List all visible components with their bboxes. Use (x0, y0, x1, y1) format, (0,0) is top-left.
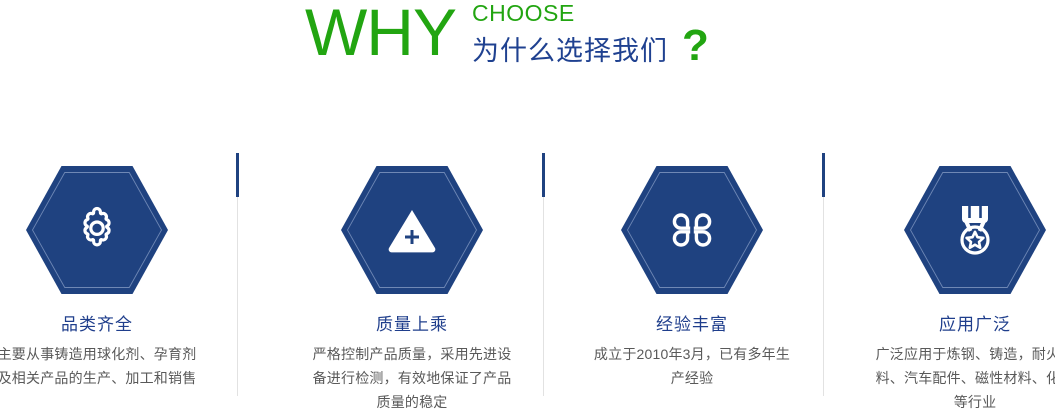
subtitle-row: 为什么选择我们 ? (472, 30, 709, 67)
card-title: 应用广泛 (847, 314, 1055, 336)
feature-card: 经验丰富 成立于2010年3月，已有多年生产经验 (564, 140, 820, 390)
hexagon-badge (341, 166, 483, 294)
card-title: 经验丰富 (564, 314, 820, 336)
headline-stack: CHOOSE 为什么选择我们 ? (472, 1, 709, 67)
hexagon-badge (904, 166, 1046, 294)
header-inner: WHY CHOOSE 为什么选择我们 ? (305, 0, 709, 68)
feature-card: 应用广泛 广泛应用于炼钢、铸造，耐火材料、汽车配件、磁性材料、化工等行业 (847, 140, 1055, 414)
feature-cards: 品类齐全 主要从事铸造用球化剂、孕育剂及相关产品的生产、加工和销售 质量上乘 严… (0, 140, 1055, 416)
why-choose-us-section: WHY CHOOSE 为什么选择我们 ? (0, 0, 1055, 416)
card-body: 严格控制产品质量，采用先进设备进行检测，有效地保证了产品质量的稳定 (284, 342, 540, 414)
card-body: 广泛应用于炼钢、铸造，耐火材料、汽车配件、磁性材料、化工等行业 (847, 342, 1055, 414)
card-title: 质量上乘 (284, 314, 540, 336)
card-body: 成立于2010年3月，已有多年生产经验 (564, 342, 820, 390)
headline-why: WHY (305, 0, 456, 68)
section-header: WHY CHOOSE 为什么选择我们 ? (0, 0, 1055, 90)
headline-choose: CHOOSE (472, 1, 709, 26)
question-mark-icon: ? (682, 30, 709, 62)
gear-icon (26, 166, 168, 294)
hexagon-badge (26, 166, 168, 294)
triangle-plus-icon (341, 166, 483, 294)
feature-card: 品类齐全 主要从事铸造用球化剂、孕育剂及相关产品的生产、加工和销售 (0, 140, 225, 390)
medal-star-icon (904, 166, 1046, 294)
card-body: 主要从事铸造用球化剂、孕育剂及相关产品的生产、加工和销售 (0, 342, 225, 390)
feature-card: 质量上乘 严格控制产品质量，采用先进设备进行检测，有效地保证了产品质量的稳定 (284, 140, 540, 414)
four-petal-clover-icon (621, 166, 763, 294)
card-title: 品类齐全 (0, 314, 225, 336)
hexagon-badge (621, 166, 763, 294)
headline-subtitle-cn: 为什么选择我们 (472, 35, 668, 67)
